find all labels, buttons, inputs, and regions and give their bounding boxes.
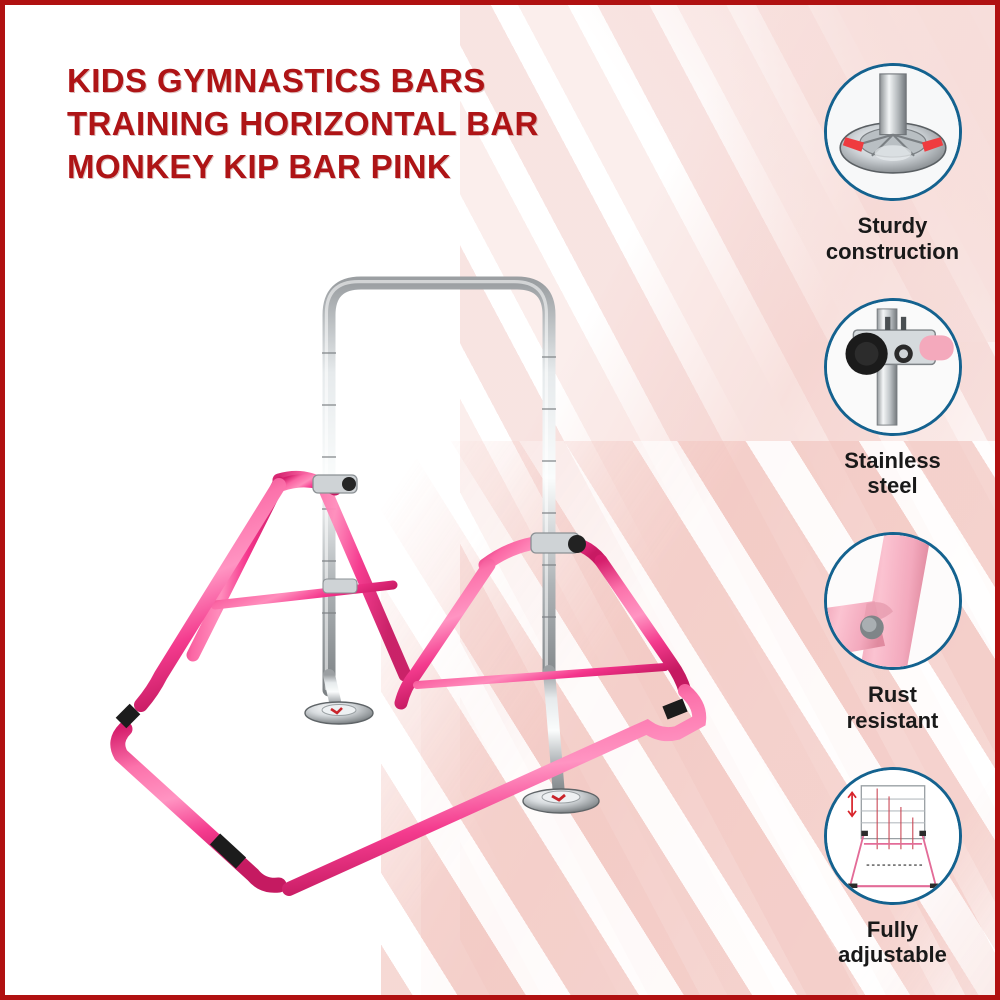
feature-label: Sturdy construction (798, 213, 988, 264)
feature-label: Fully adjustable (798, 917, 988, 968)
page-title: Kids Gymnastics Bars Training Horizontal… (67, 60, 667, 189)
product-image (65, 235, 765, 935)
brace-clamp (323, 579, 357, 593)
feature-rust-resistant[interactable]: Rust resistant (790, 532, 995, 759)
canvas: Kids Gymnastics Bars Training Horizontal… (5, 5, 995, 995)
clamp-right (531, 533, 586, 553)
clamp-left (313, 475, 357, 493)
feature-fully-adjustable[interactable]: Fully adjustable (790, 767, 995, 994)
title-line-3: Monkey Kip Bar Pink (67, 146, 667, 189)
clamp-knob-photo-icon (824, 298, 962, 436)
feature-label: Stainless steel (798, 448, 988, 499)
height-diagram-icon (824, 767, 962, 905)
page-frame: Kids Gymnastics Bars Training Horizontal… (0, 0, 1000, 1000)
foot-right (523, 789, 599, 813)
feature-list: Sturdy construction (790, 63, 995, 993)
feature-stainless-steel[interactable]: Stainless steel (790, 298, 995, 525)
base-plate-photo-icon (824, 63, 962, 201)
feature-label: Rust resistant (798, 682, 988, 733)
pink-tube-joint-photo-icon (824, 532, 962, 670)
title-line-1: Kids Gymnastics Bars (67, 60, 667, 103)
title-line-2: Training Horizontal Bar (67, 103, 667, 146)
foot-left (305, 702, 373, 724)
feature-sturdy-construction[interactable]: Sturdy construction (790, 63, 995, 290)
